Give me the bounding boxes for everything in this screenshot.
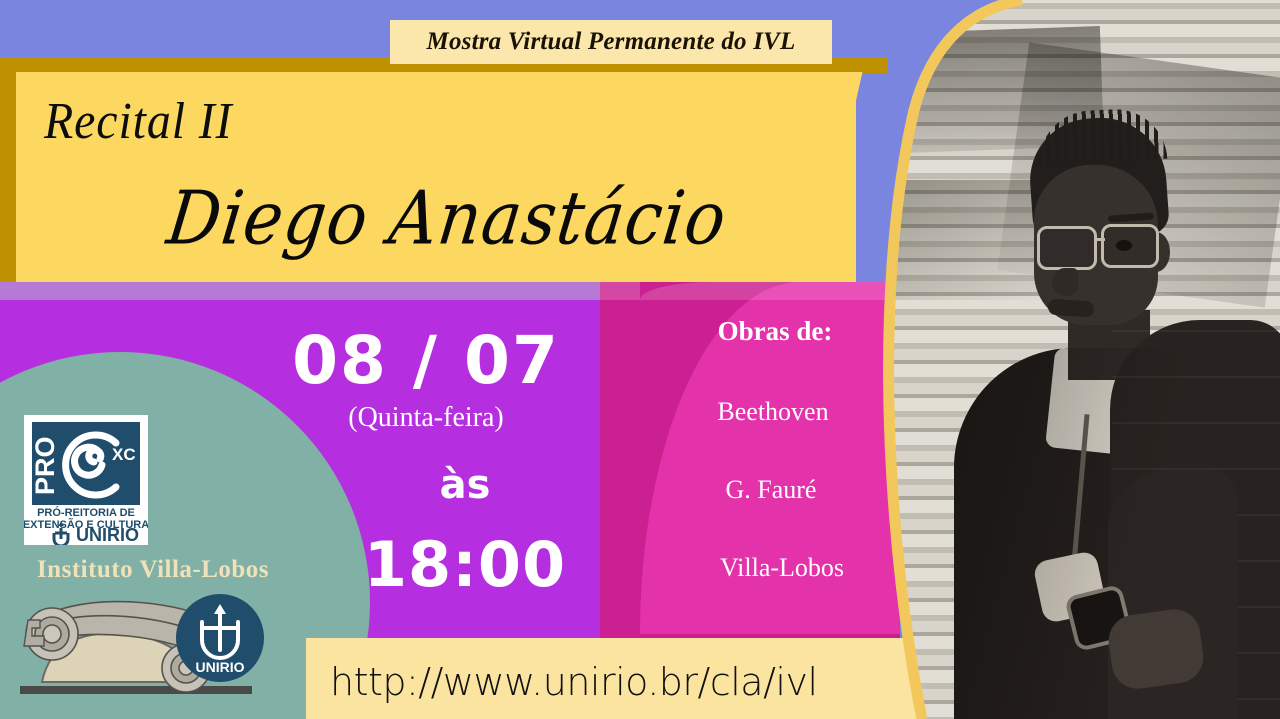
proexc-unirio-text: UNIRIO — [76, 525, 139, 545]
event-time: 18:00 — [300, 528, 630, 601]
background-purple-tint-strip — [0, 282, 640, 300]
website-url[interactable]: http://www.unirio.br/cla/ivl — [330, 660, 890, 704]
ivl-unirio-badge: UNIRIO — [174, 592, 266, 684]
proexc-xc-text: XC — [112, 445, 136, 464]
proexc-logo: PRO XC PRÓ-REITORIA DE EXTENSÃO E CULTUR… — [24, 415, 148, 545]
event-at-label: às — [300, 462, 630, 508]
composer-item: G. Fauré — [648, 475, 892, 505]
ivl-name: Instituto Villa-Lobos — [18, 556, 288, 584]
recital-title: Recital II — [44, 92, 233, 151]
portrait-photo — [862, 0, 1280, 719]
proexc-line1: PRÓ-REITORIA DE — [37, 506, 135, 519]
event-date: 08 / 07 — [236, 322, 616, 399]
photo-sepia-tone — [862, 0, 1280, 719]
poster-root: Recital II Diego Anastácio Mostra Virtua… — [0, 0, 1280, 719]
composer-item: Beethoven — [648, 397, 892, 427]
program-block: Obras de: Beethoven G. Fauré Villa-Lobos — [648, 316, 892, 583]
top-banner: Mostra Virtual Permanente do IVL — [390, 20, 832, 64]
artist-name: Diego Anastácio — [163, 175, 732, 261]
ivl-logo-block: Instituto Villa-Lobos — [14, 556, 304, 706]
background-pink-tint-strip — [640, 282, 900, 300]
proexc-pro-text: PRO — [30, 436, 60, 495]
top-banner-text: Mostra Virtual Permanente do IVL — [427, 28, 796, 56]
composer-item: Villa-Lobos — [648, 553, 892, 583]
event-weekday: (Quinta-feira) — [236, 402, 616, 434]
program-heading: Obras de: — [648, 316, 892, 347]
portrait-photo-panel — [862, 0, 1280, 719]
ivl-badge-text: UNIRIO — [196, 659, 245, 675]
